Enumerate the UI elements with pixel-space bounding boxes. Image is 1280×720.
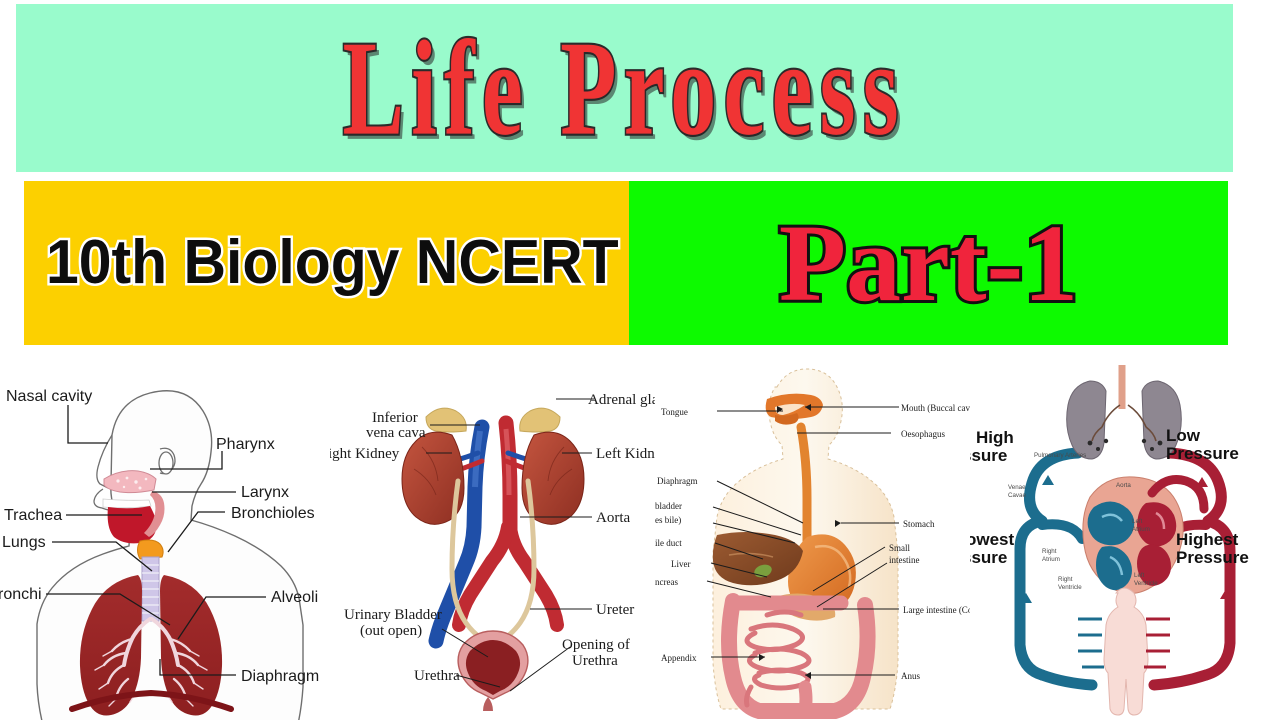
label-bronchioles: Bronchioles bbox=[231, 505, 315, 522]
label-mouth: Mouth (Buccal cavity) bbox=[901, 403, 970, 413]
label-vena-cava: vena cava bbox=[366, 425, 426, 441]
part-label: Part-1 bbox=[779, 208, 1078, 318]
label-right-ventricle-1: Right bbox=[1058, 576, 1073, 583]
label-nasal-cavity: Nasal cavity bbox=[6, 388, 92, 405]
label-right-ventricle-2: Ventricle bbox=[1058, 584, 1082, 591]
label-bile-duct: ile duct bbox=[655, 538, 682, 548]
label-inferior: Inferior bbox=[372, 410, 418, 426]
label-highest-pressure-1: Highest bbox=[1176, 530, 1239, 549]
label-left-ventricle-1: Left bbox=[1134, 572, 1145, 579]
label-opening-of: Opening of bbox=[562, 637, 630, 653]
label-diaphragm: Diaphragm bbox=[241, 668, 319, 685]
label-trachea: Trachea bbox=[4, 507, 62, 524]
label-ureter: Ureter bbox=[596, 602, 634, 618]
label-opening-urethra: Urethra bbox=[572, 653, 618, 669]
label-out-open: (out open) bbox=[360, 623, 422, 639]
label-left-ventricle-2: Ventricle bbox=[1134, 580, 1158, 587]
label-low-pressure-1: Low bbox=[1166, 426, 1201, 445]
label-pulmonary-arteries: Pulmonary Arteries bbox=[1034, 452, 1086, 459]
label-lungs: Lungs bbox=[2, 534, 46, 551]
diagram-digestive-system: Tongue Mouth (Buccal cavity) Oesophagus … bbox=[655, 357, 970, 720]
label-right-atrium-1: Right bbox=[1042, 548, 1057, 555]
label-pancreas: ncreas bbox=[655, 577, 678, 587]
subject-banner: 10th Biology NCERT bbox=[24, 181, 629, 345]
label-aorta: Aorta bbox=[596, 510, 630, 526]
label-left-kidney: Left Kidney bbox=[596, 446, 655, 462]
label-aorta: Aorta bbox=[1116, 482, 1131, 489]
title-banner: Life Process bbox=[16, 4, 1233, 172]
label-anus: Anus bbox=[901, 671, 920, 681]
label-bronchi: ronchi bbox=[0, 586, 42, 603]
subject-label: 10th Biology NCERT bbox=[46, 232, 619, 294]
label-diaphragm: Diaphragm bbox=[657, 476, 698, 486]
subtitle-row: 10th Biology NCERT Part-1 bbox=[24, 181, 1228, 345]
label-gall-bladder: bladder bbox=[655, 501, 682, 511]
label-liver: Liver bbox=[671, 559, 691, 569]
label-lowest-pressure-1: owest bbox=[970, 530, 1015, 549]
label-left-atrium-2: Atrium bbox=[1132, 526, 1150, 533]
label-cavae: Cavae bbox=[1008, 492, 1026, 499]
label-high-pressure-2: ssure bbox=[970, 446, 1007, 465]
label-large-intestine: Large intestine (Color bbox=[903, 605, 970, 615]
label-lowest-pressure-2: ssure bbox=[970, 548, 1007, 567]
diagram-strip: Nasal cavity Pharynx Larynx Trachea Bron… bbox=[0, 357, 1280, 720]
label-urethra: Urethra bbox=[414, 668, 460, 684]
label-stores-bile: es bile) bbox=[655, 515, 681, 525]
label-intestine: intestine bbox=[889, 555, 920, 565]
label-high-pressure-1: High bbox=[976, 428, 1014, 447]
label-stomach: Stomach bbox=[903, 519, 935, 529]
label-oesophagus: Oesophagus bbox=[901, 429, 945, 439]
label-pharynx: Pharynx bbox=[216, 436, 275, 453]
label-low-pressure-2: Pressure bbox=[1166, 444, 1239, 463]
label-small: Small bbox=[889, 543, 911, 553]
diagram-excretory-system: Adrenal gland Inferior vena cava ight Ki… bbox=[330, 357, 655, 720]
label-tongue: Tongue bbox=[661, 407, 688, 417]
thumbnail-canvas: Life Process 10th Biology NCERT Part-1 bbox=[0, 0, 1280, 720]
page-title: Life Process bbox=[343, 20, 906, 156]
label-adrenal-gland: Adrenal gland bbox=[588, 392, 655, 408]
label-larynx: Larynx bbox=[241, 484, 289, 501]
label-right-kidney: ight Kidney bbox=[330, 446, 400, 462]
label-urinary-bladder: Urinary Bladder bbox=[344, 607, 442, 623]
label-left-atrium-1: Left bbox=[1132, 518, 1143, 525]
label-alveoli: Alveoli bbox=[271, 589, 318, 606]
part-banner: Part-1 bbox=[629, 181, 1228, 345]
diagram-circulatory-system: Pulmonary Arteries Aorta Venae Cavae Rig… bbox=[970, 357, 1280, 720]
label-appendix: Appendix bbox=[661, 653, 697, 663]
diagram-respiratory-system: Nasal cavity Pharynx Larynx Trachea Bron… bbox=[0, 357, 330, 720]
label-right-atrium-2: Atrium bbox=[1042, 556, 1060, 563]
label-venae: Venae bbox=[1008, 484, 1026, 491]
label-highest-pressure-2: Pressure bbox=[1176, 548, 1249, 567]
